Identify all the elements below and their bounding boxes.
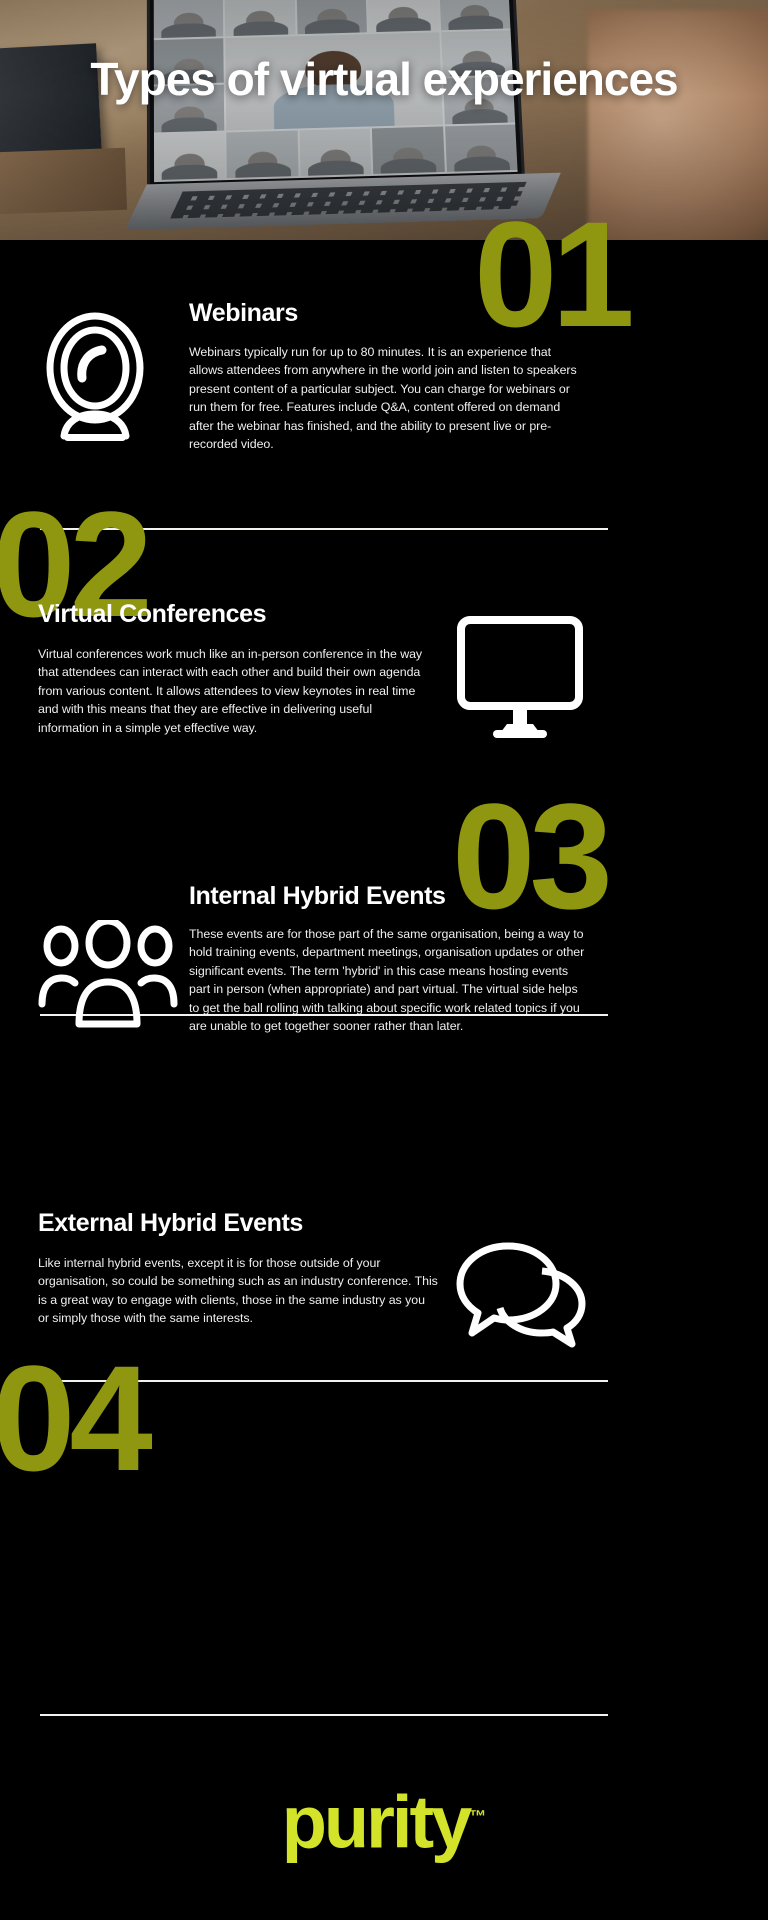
footer-divider <box>40 1714 608 1716</box>
people-group-icon <box>38 920 178 1035</box>
brand-logo: purity™ <box>0 1780 768 1860</box>
webcam-icon <box>40 306 150 451</box>
section-heading-webinars: Webinars <box>189 299 298 328</box>
brand-logo-text: purity <box>282 1781 470 1864</box>
section-heading-external-hybrid-events: External Hybrid Events <box>38 1209 303 1238</box>
section-body-webinars: Webinars typically run for up to 80 minu… <box>189 343 581 453</box>
section-number-04: 04 <box>0 1362 147 1474</box>
section-number-03: 03 <box>452 800 607 912</box>
trademark-symbol: ™ <box>469 1807 486 1826</box>
section-body-internal-hybrid-events: These events are for those part of the s… <box>189 925 589 1035</box>
section-number-01: 01 <box>474 218 629 330</box>
section-body-virtual-conferences: Virtual conferences work much like an in… <box>38 645 430 737</box>
section-body-external-hybrid-events: Like internal hybrid events, except it i… <box>38 1254 438 1328</box>
hero-photo <box>0 0 768 240</box>
section-heading-virtual-conferences: Virtual Conferences <box>38 600 266 629</box>
page-title: Types of virtual experiences <box>0 52 768 106</box>
section-heading-internal-hybrid-events: Internal Hybrid Events <box>189 882 446 911</box>
hero-overlay <box>0 0 768 240</box>
speech-bubbles-icon <box>450 1238 590 1353</box>
hero-banner: Types of virtual experiences <box>0 0 768 240</box>
monitor-icon <box>455 614 585 744</box>
